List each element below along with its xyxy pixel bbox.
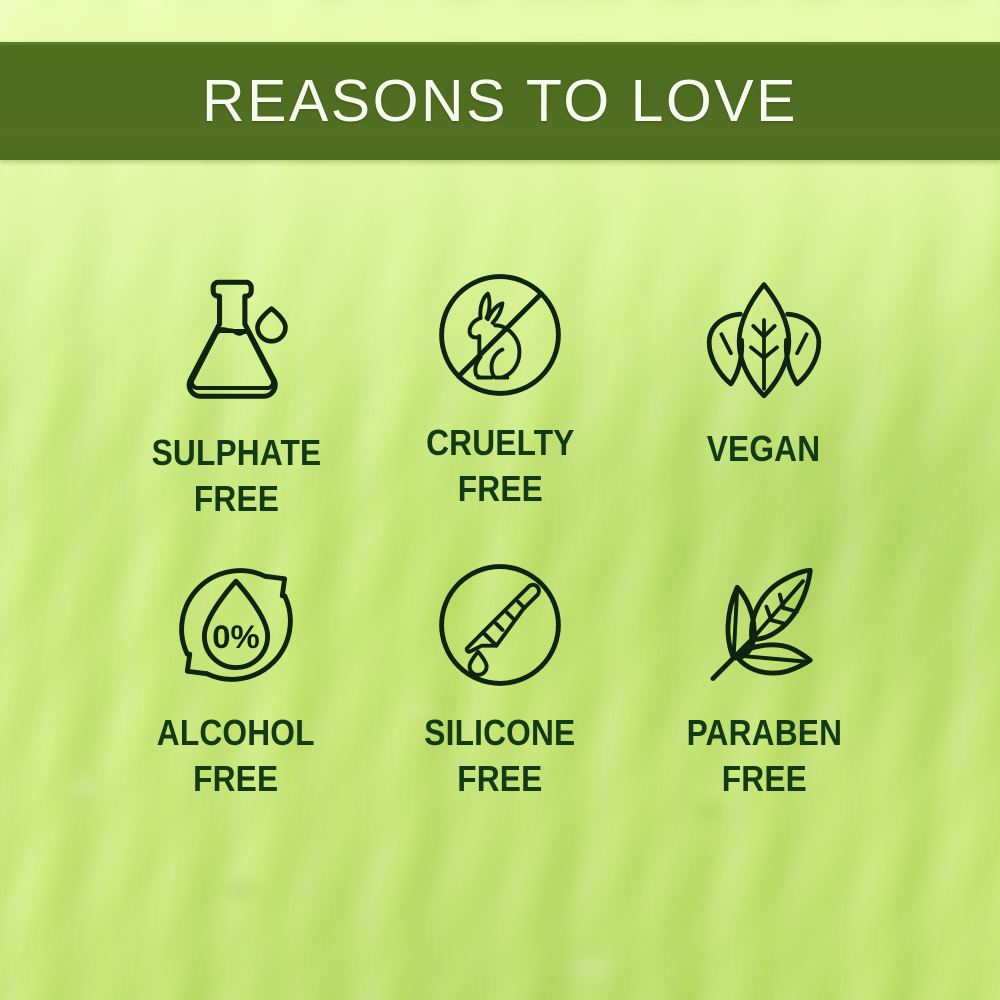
header-banner: REASONS TO LOVE <box>0 42 1000 160</box>
feature-label-line2: FREE <box>426 466 574 512</box>
three-leaves-icon <box>689 268 839 410</box>
feature-silicone-free: SILICONE FREE <box>368 552 632 842</box>
feature-label-line1: SULPHATE <box>151 432 321 473</box>
reasons-grid: SULPHATE FREE <box>0 262 1000 842</box>
feature-label: SILICONE FREE <box>424 710 575 801</box>
zero-percent-droplet-icon: 0% <box>163 552 309 698</box>
leaf-sprig-icon <box>688 552 840 698</box>
feature-label: SULPHATE FREE <box>151 430 321 521</box>
feature-label-line2: FREE <box>686 756 842 802</box>
feature-label-line2: FREE <box>424 756 575 802</box>
feature-label-line2: FREE <box>151 476 321 522</box>
feature-label-line1: PARABEN <box>686 712 842 753</box>
feature-label: ALCOHOL FREE <box>157 710 315 801</box>
feature-vegan: VEGAN <box>632 262 896 552</box>
svg-text:0%: 0% <box>212 618 259 655</box>
feature-sulphate-free: SULPHATE FREE <box>104 262 368 552</box>
no-rabbit-icon <box>427 262 573 408</box>
feature-alcohol-free: 0% ALCOHOL FREE <box>104 552 368 842</box>
feature-label-line1: VEGAN <box>707 428 821 469</box>
flask-droplet-icon <box>160 262 312 414</box>
feature-label: VEGAN <box>707 426 821 472</box>
feature-label-line2: FREE <box>157 756 315 802</box>
feature-label: CRUELTY FREE <box>426 420 574 511</box>
feature-label: PARABEN FREE <box>686 710 842 801</box>
page-title: REASONS TO LOVE <box>202 67 798 135</box>
feature-label-line1: CRUELTY <box>426 422 574 463</box>
feature-cruelty-free: CRUELTY FREE <box>368 262 632 552</box>
feature-label-line1: SILICONE <box>424 712 575 753</box>
feature-label-line1: ALCOHOL <box>157 712 315 753</box>
dropper-pipette-icon <box>427 552 573 698</box>
feature-paraben-free: PARABEN FREE <box>632 552 896 842</box>
